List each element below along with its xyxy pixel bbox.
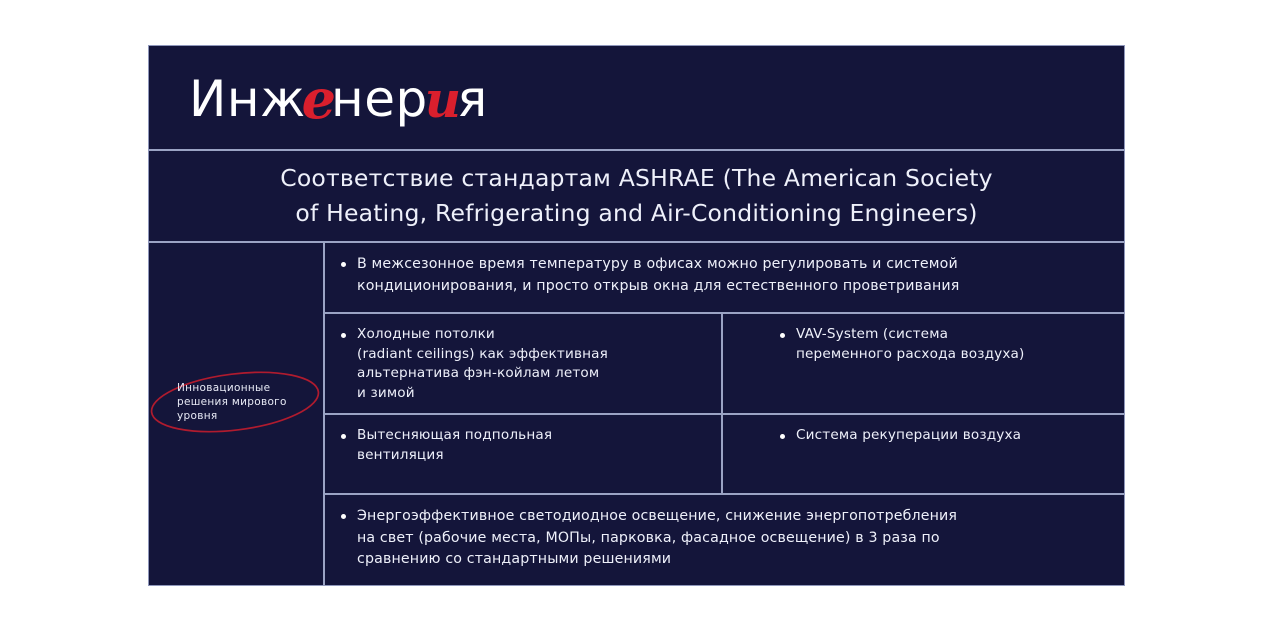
bullet-item: Энергоэффективное светодиодное освещение… bbox=[341, 506, 1106, 571]
presentation-slide: Инженерия Соответствие стандартам ASHRAE… bbox=[148, 45, 1125, 586]
slide-title-line-2: of Heating, Refrigerating and Air-Condit… bbox=[295, 196, 977, 231]
bullet-text: Энергоэффективное светодиодное освещение… bbox=[357, 506, 1106, 571]
bullet-dot-icon bbox=[780, 333, 785, 338]
logo-part-1: Инж bbox=[189, 70, 306, 128]
bullet-row-4: Энергоэффективное светодиодное освещение… bbox=[325, 495, 1124, 585]
bullet-text: VAV-System (система переменного расхода … bbox=[796, 325, 1106, 364]
bullet-text: Система рекуперации воздуха bbox=[796, 426, 1106, 446]
bullet-item: VAV-System (система переменного расхода … bbox=[780, 325, 1106, 364]
annotation-callout: Инновационные решения мирового уровня bbox=[171, 381, 321, 423]
bullet-row-1: В межсезонное время температуру в офисах… bbox=[325, 243, 1124, 314]
logo-script-i: и bbox=[425, 70, 459, 129]
bullet-text: Вытесняющая подпольная вентиляция bbox=[357, 426, 703, 465]
bullet-cell-1-1: В межсезонное время температуру в офисах… bbox=[325, 243, 1124, 312]
logo-part-3: я bbox=[457, 70, 488, 128]
bullet-cell-3-2: Система рекуперации воздуха bbox=[723, 415, 1124, 493]
bullet-item: Система рекуперации воздуха bbox=[780, 426, 1106, 446]
bullet-dot-icon bbox=[341, 434, 346, 439]
logo-script-e: е bbox=[302, 67, 334, 131]
annotation-label: Инновационные решения мирового уровня bbox=[171, 381, 321, 423]
bullet-dot-icon bbox=[780, 434, 785, 439]
bullet-cell-4-1: Энергоэффективное светодиодное освещение… bbox=[325, 495, 1124, 585]
logo-part-2: нер bbox=[331, 70, 428, 128]
slide-title-line-1: Соответствие стандартам ASHRAE (The Amer… bbox=[280, 161, 993, 196]
bullet-dot-icon bbox=[341, 262, 346, 267]
bullet-item: В межсезонное время температуру в офисах… bbox=[341, 254, 1106, 297]
slide-title: Соответствие стандартам ASHRAE (The Amer… bbox=[149, 151, 1124, 243]
bullet-cell-2-1: Холодные потолки (radiant ceilings) как … bbox=[325, 314, 723, 413]
content-area: Инновационные решения мирового уровня В … bbox=[149, 243, 1124, 585]
bullet-dot-icon bbox=[341, 514, 346, 519]
bullet-item: Холодные потолки (radiant ceilings) как … bbox=[341, 325, 703, 403]
bullet-row-2: Холодные потолки (radiant ceilings) как … bbox=[325, 314, 1124, 415]
bullet-dot-icon bbox=[341, 333, 346, 338]
bullet-row-3: Вытесняющая подпольная вентиляция Систем… bbox=[325, 415, 1124, 495]
bullet-cell-2-2: VAV-System (система переменного расхода … bbox=[723, 314, 1124, 413]
annotation-column: Инновационные решения мирового уровня bbox=[149, 243, 325, 585]
brand-logo: Инженерия bbox=[189, 68, 488, 128]
bullet-item: Вытесняющая подпольная вентиляция bbox=[341, 426, 703, 465]
bullet-rows: В межсезонное время температуру в офисах… bbox=[325, 243, 1124, 585]
bullet-text: Холодные потолки (radiant ceilings) как … bbox=[357, 325, 703, 403]
bullet-text: В межсезонное время температуру в офисах… bbox=[357, 254, 1106, 297]
logo-band: Инженерия bbox=[149, 46, 1124, 151]
bullet-cell-3-1: Вытесняющая подпольная вентиляция bbox=[325, 415, 723, 493]
